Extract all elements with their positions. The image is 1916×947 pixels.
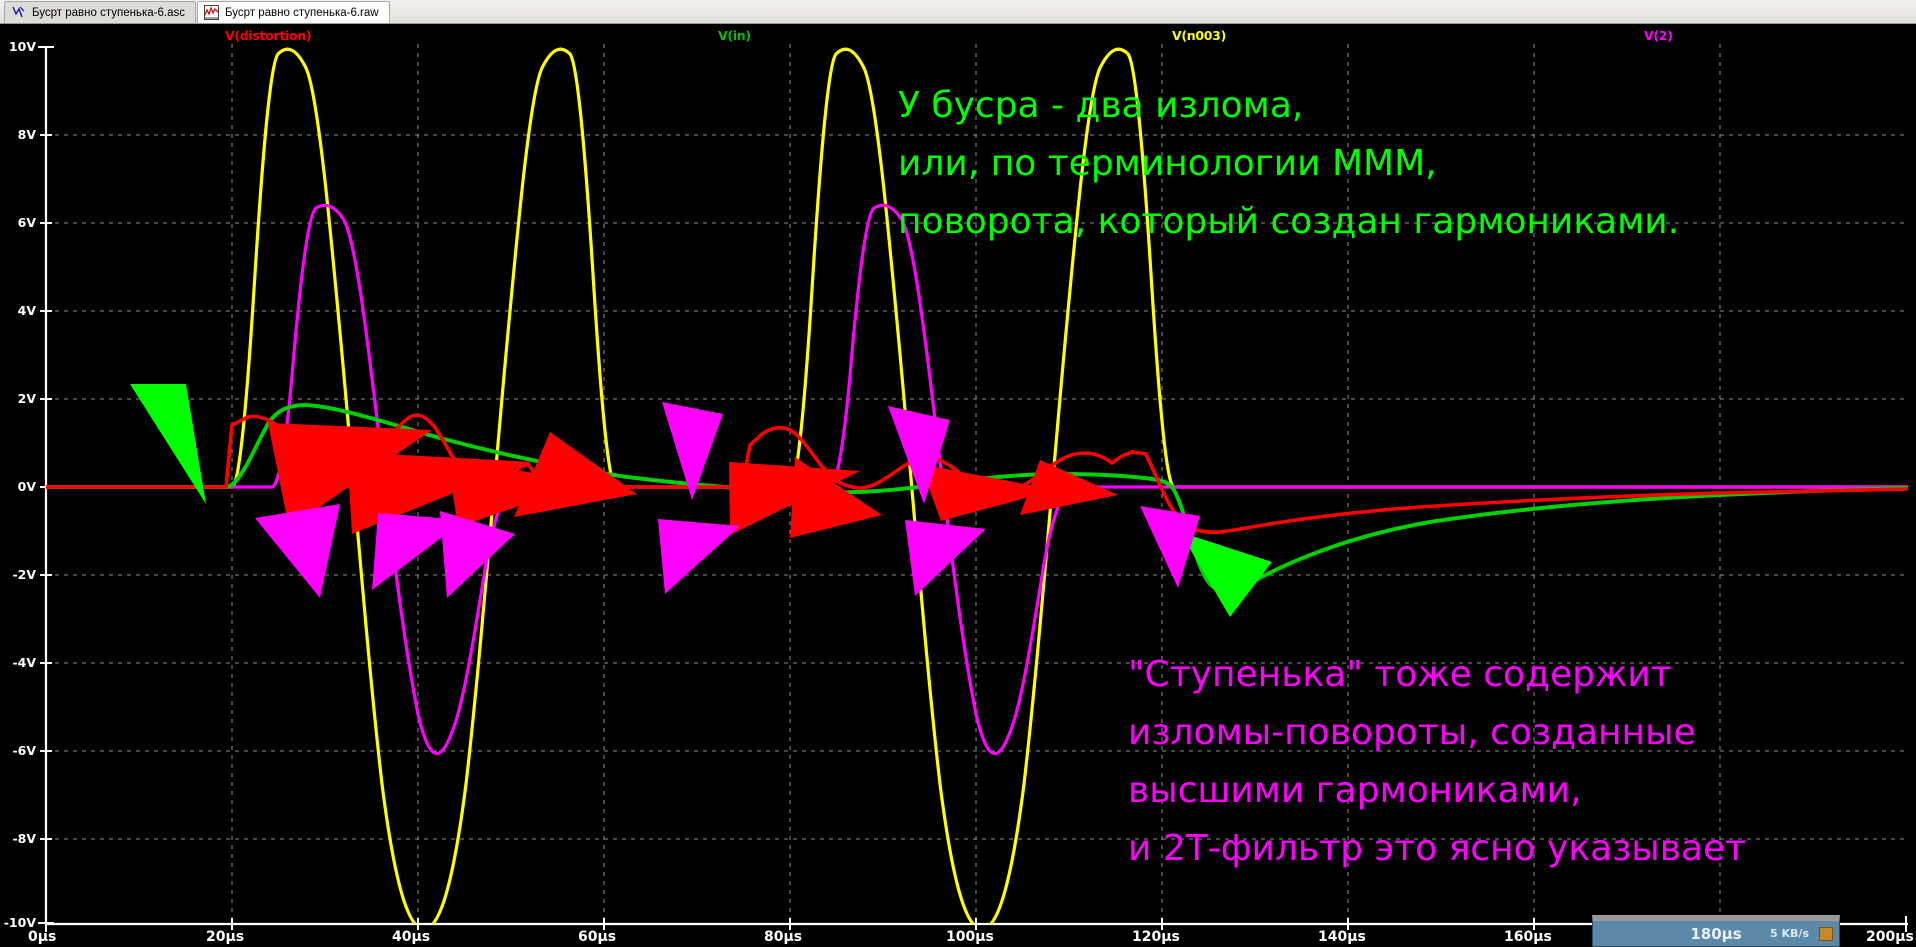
waveform-icon [204, 5, 219, 20]
y-tick-label-4v: 4V [0, 303, 36, 318]
x-tick-label-160us: 160µs [1504, 929, 1552, 945]
x-tick-label-0us: 0µs [28, 929, 56, 945]
x-tick-label-80us: 80µs [764, 929, 802, 945]
x-tick-label-200us: 200µs [1866, 929, 1914, 945]
annotation-magenta-line-3: высшими гармониками, [1128, 768, 1582, 814]
annotation-magenta-line-2: изломы-повороты, созданные [1128, 710, 1696, 756]
tab-label-waveform: Бусрт равно ступенька-6.raw [225, 7, 379, 19]
y-tick-label-neg10v: -10V [0, 915, 36, 930]
annotation-green-line-3: поворота, который создан гармониками. [898, 199, 1679, 245]
download-speed-label: 5 KB/s [1770, 927, 1809, 940]
y-tick-label-neg8v: -8V [0, 831, 36, 846]
x-tick-label-140us: 140µs [1318, 929, 1366, 945]
x-tick-label-60us: 60µs [578, 929, 616, 945]
tab-schematic[interactable]: Бусрт равно ступенька-6.asc [4, 1, 196, 23]
y-tick-label-0v: 0V [0, 479, 36, 494]
tab-bar: Бусрт равно ступенька-6.asc Бусрт равно … [0, 0, 1916, 24]
x-tick-label-100us: 100µs [946, 929, 994, 945]
arrow-green-right [1180, 532, 1272, 617]
tab-waveform[interactable]: Бусрт равно ступенька-6.raw [197, 1, 390, 23]
y-tick-label-neg2v: -2V [0, 567, 36, 582]
waveform-plot-panel[interactable]: V(distortion) V(in) V(n003) V(2) [0, 24, 1916, 947]
y-tick-label-8v: 8V [0, 127, 36, 142]
tab-label-schematic: Бусрт равно ступенька-6.asc [32, 7, 185, 19]
download-icon[interactable] [1819, 927, 1833, 941]
annotation-magenta-line-1: "Ступенька" тоже содержит [1128, 652, 1672, 698]
schematic-icon [11, 5, 26, 20]
annotation-green-line-2: или, по терминологии МММ, [898, 141, 1437, 187]
y-tick-label-neg4v: -4V [0, 655, 36, 670]
annotation-green-line-1: У бусра - два излома, [898, 83, 1303, 129]
download-speed-overlay[interactable]: 180µs 5 KB/s [1592, 915, 1840, 947]
x-tick-label-40us: 40µs [392, 929, 430, 945]
x-tick-label-20us: 20µs [206, 929, 244, 945]
x-tick-label-120us: 120µs [1132, 929, 1180, 945]
y-tick-label-6v: 6V [0, 215, 36, 230]
y-tick-label-2v: 2V [0, 391, 36, 406]
annotation-magenta-line-4: и 2Т-фильтр это ясно указывает [1128, 826, 1746, 872]
y-tick-label-neg6v: -6V [0, 743, 36, 758]
y-tick-label-10v: 10V [0, 39, 36, 54]
